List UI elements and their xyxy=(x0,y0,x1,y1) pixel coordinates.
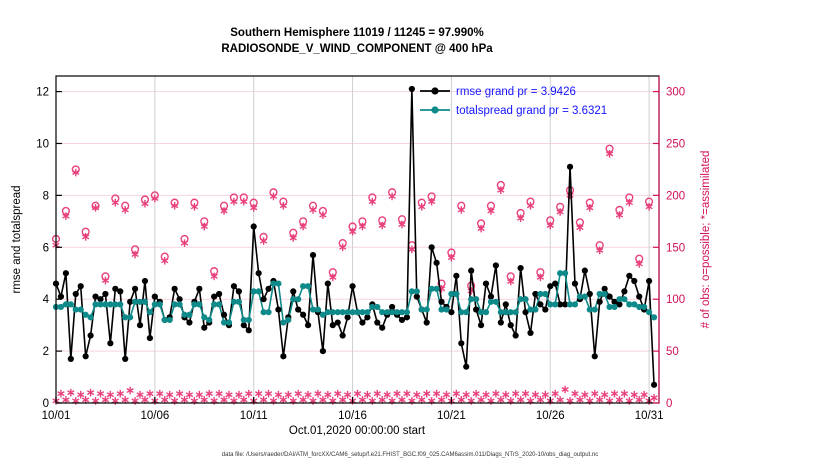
svg-text:10/06: 10/06 xyxy=(140,410,169,422)
legend-rmse-marker xyxy=(431,87,438,94)
svg-text:8: 8 xyxy=(43,190,49,202)
svg-text:10/26: 10/26 xyxy=(536,410,565,422)
svg-text:0: 0 xyxy=(43,398,49,410)
legend-label-rmse: rmse grand pr = 3.9426 xyxy=(456,86,576,98)
svg-text:250: 250 xyxy=(666,138,685,150)
svg-text:10/01: 10/01 xyxy=(42,410,71,422)
obs-diagnostic-figure: Southern Hemisphere 11019 / 11245 = 97.9… xyxy=(0,0,830,470)
svg-text:100: 100 xyxy=(666,294,685,306)
svg-text:2: 2 xyxy=(43,346,49,358)
svg-text:6: 6 xyxy=(43,242,49,254)
svg-text:50: 50 xyxy=(666,346,679,358)
chart-title-line1: Southern Hemisphere 11019 / 11245 = 97.9… xyxy=(230,27,483,39)
legend-totalspread-marker xyxy=(431,106,438,113)
y-axis-left-label: rmse and totalspread xyxy=(11,185,23,293)
svg-text:0: 0 xyxy=(666,398,672,410)
data-file-footer: data file: /Users/raeder/DAI/ATM_forcXX/… xyxy=(222,452,598,458)
svg-text:10/21: 10/21 xyxy=(437,410,466,422)
svg-text:300: 300 xyxy=(666,87,685,99)
svg-text:200: 200 xyxy=(666,190,685,202)
svg-text:10/11: 10/11 xyxy=(240,410,268,422)
svg-text:10/31: 10/31 xyxy=(635,410,664,422)
svg-text:12: 12 xyxy=(36,87,49,99)
svg-text:150: 150 xyxy=(666,242,685,254)
svg-text:4: 4 xyxy=(43,294,50,306)
chart-title-line2: RADIOSONDE_V_WIND_COMPONENT @ 400 hPa xyxy=(221,43,493,55)
svg-text:10/16: 10/16 xyxy=(338,410,367,422)
legend-label-totalspread: totalspread grand pr = 3.6321 xyxy=(456,105,607,117)
x-axis-label: Oct.01,2020 00:00:00 start xyxy=(289,425,426,437)
svg-text:10: 10 xyxy=(36,138,49,150)
y-axis-right-label: # of obs: o=possible; *=assimilated xyxy=(700,151,712,329)
